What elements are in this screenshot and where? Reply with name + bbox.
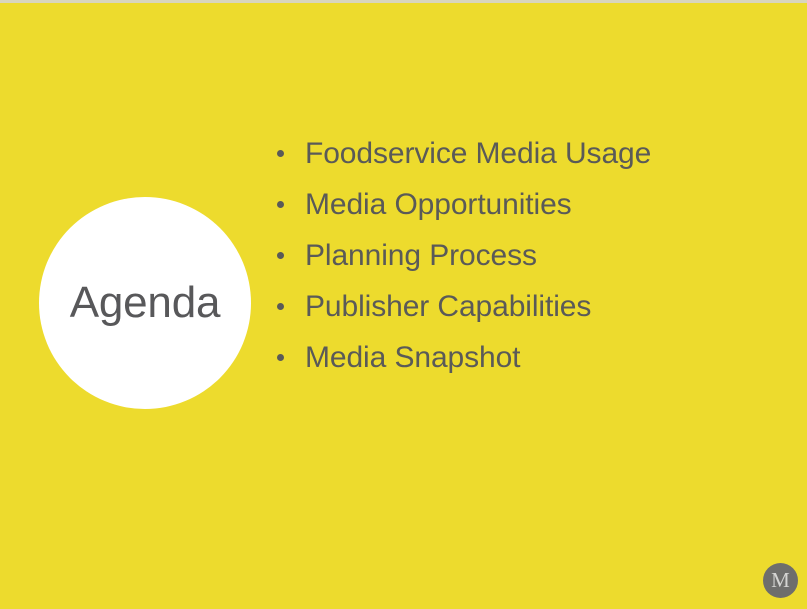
- agenda-item-label: Planning Process: [305, 241, 537, 271]
- bullet-icon: [277, 201, 284, 208]
- bullet-icon: [277, 252, 284, 259]
- agenda-badge: Agenda: [39, 197, 251, 409]
- list-item[interactable]: Planning Process: [277, 230, 757, 281]
- bullet-icon: [277, 150, 284, 157]
- agenda-badge-label: Agenda: [70, 281, 221, 325]
- agenda-item-label: Media Opportunities: [305, 190, 572, 220]
- agenda-slide: Agenda Foodservice Media Usage Media Opp…: [0, 0, 807, 609]
- bullet-icon: [277, 354, 284, 361]
- agenda-item-label: Publisher Capabilities: [305, 292, 591, 322]
- list-item[interactable]: Media Snapshot: [277, 332, 757, 383]
- list-item[interactable]: Media Opportunities: [277, 179, 757, 230]
- agenda-list: Foodservice Media Usage Media Opportunit…: [277, 128, 757, 383]
- list-item[interactable]: Publisher Capabilities: [277, 281, 757, 332]
- list-item[interactable]: Foodservice Media Usage: [277, 128, 757, 179]
- agenda-item-label: Media Snapshot: [305, 343, 520, 373]
- agenda-item-label: Foodservice Media Usage: [305, 139, 651, 169]
- bullet-icon: [277, 303, 284, 310]
- brand-monogram-label: M: [771, 570, 790, 591]
- brand-logo-icon: M: [763, 563, 798, 598]
- slide-top-edge: [0, 0, 807, 3]
